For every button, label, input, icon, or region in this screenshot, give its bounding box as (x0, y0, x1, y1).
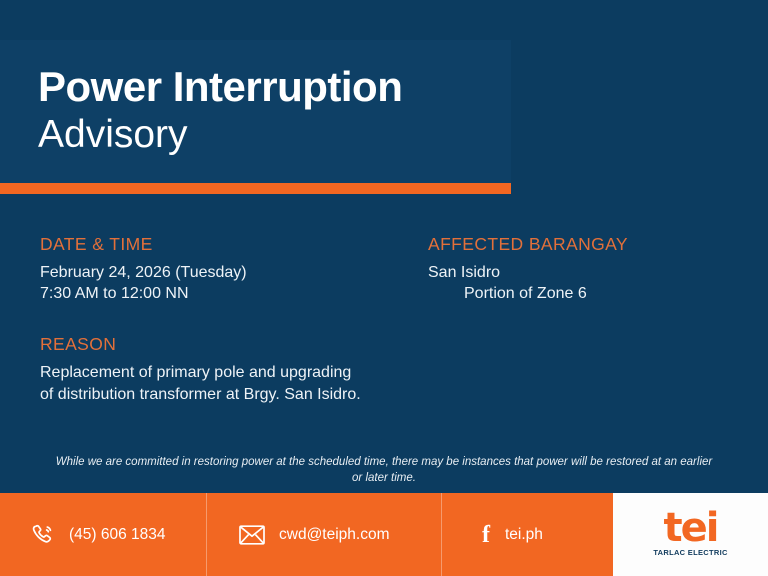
facebook-icon: f (482, 523, 492, 547)
phone-icon (30, 522, 56, 548)
footer-phone[interactable]: (45) 606 1834 (30, 493, 166, 576)
datetime-heading: DATE & TIME (40, 234, 247, 255)
barangay-detail: Portion of Zone 6 (428, 283, 628, 304)
page-title: Power Interruption (38, 66, 402, 108)
barangay-name: San Isidro (428, 262, 628, 283)
envelope-icon (238, 523, 266, 547)
reason-section: REASON Replacement of primary pole and u… (40, 334, 361, 405)
title-panel: Power Interruption Advisory (0, 40, 511, 183)
logo-wordmark: tei (664, 512, 718, 545)
page-subtitle: Advisory (38, 115, 188, 154)
advisory-poster: Power Interruption Advisory DATE & TIME … (0, 0, 768, 576)
datetime-section: DATE & TIME February 24, 2026 (Tuesday) … (40, 234, 247, 304)
company-logo: tei TARLAC ELECTRIC (613, 493, 768, 576)
footer-divider-2 (441, 493, 442, 576)
footer-divider-1 (206, 493, 207, 576)
footer-social-label: tei.ph (505, 526, 543, 544)
datetime-date: February 24, 2026 (Tuesday) (40, 262, 247, 283)
footer-email[interactable]: cwd@teiph.com (238, 493, 390, 576)
datetime-time: 7:30 AM to 12:00 NN (40, 283, 247, 304)
logo-caption: TARLAC ELECTRIC (653, 548, 727, 557)
reason-heading: REASON (40, 334, 361, 355)
footer-email-label: cwd@teiph.com (279, 526, 390, 544)
reason-line-1: Replacement of primary pole and upgradin… (40, 362, 361, 384)
disclaimer-text: While we are committed in restoring powe… (52, 454, 716, 487)
reason-line-2: of distribution transformer at Brgy. San… (40, 384, 361, 406)
footer-phone-label: (45) 606 1834 (69, 526, 166, 544)
barangay-section: AFFECTED BARANGAY San Isidro Portion of … (428, 234, 628, 304)
facebook-glyph: f (482, 523, 492, 547)
footer-social[interactable]: f tei.ph (482, 493, 543, 576)
barangay-heading: AFFECTED BARANGAY (428, 234, 628, 255)
title-accent-rule (0, 183, 511, 194)
